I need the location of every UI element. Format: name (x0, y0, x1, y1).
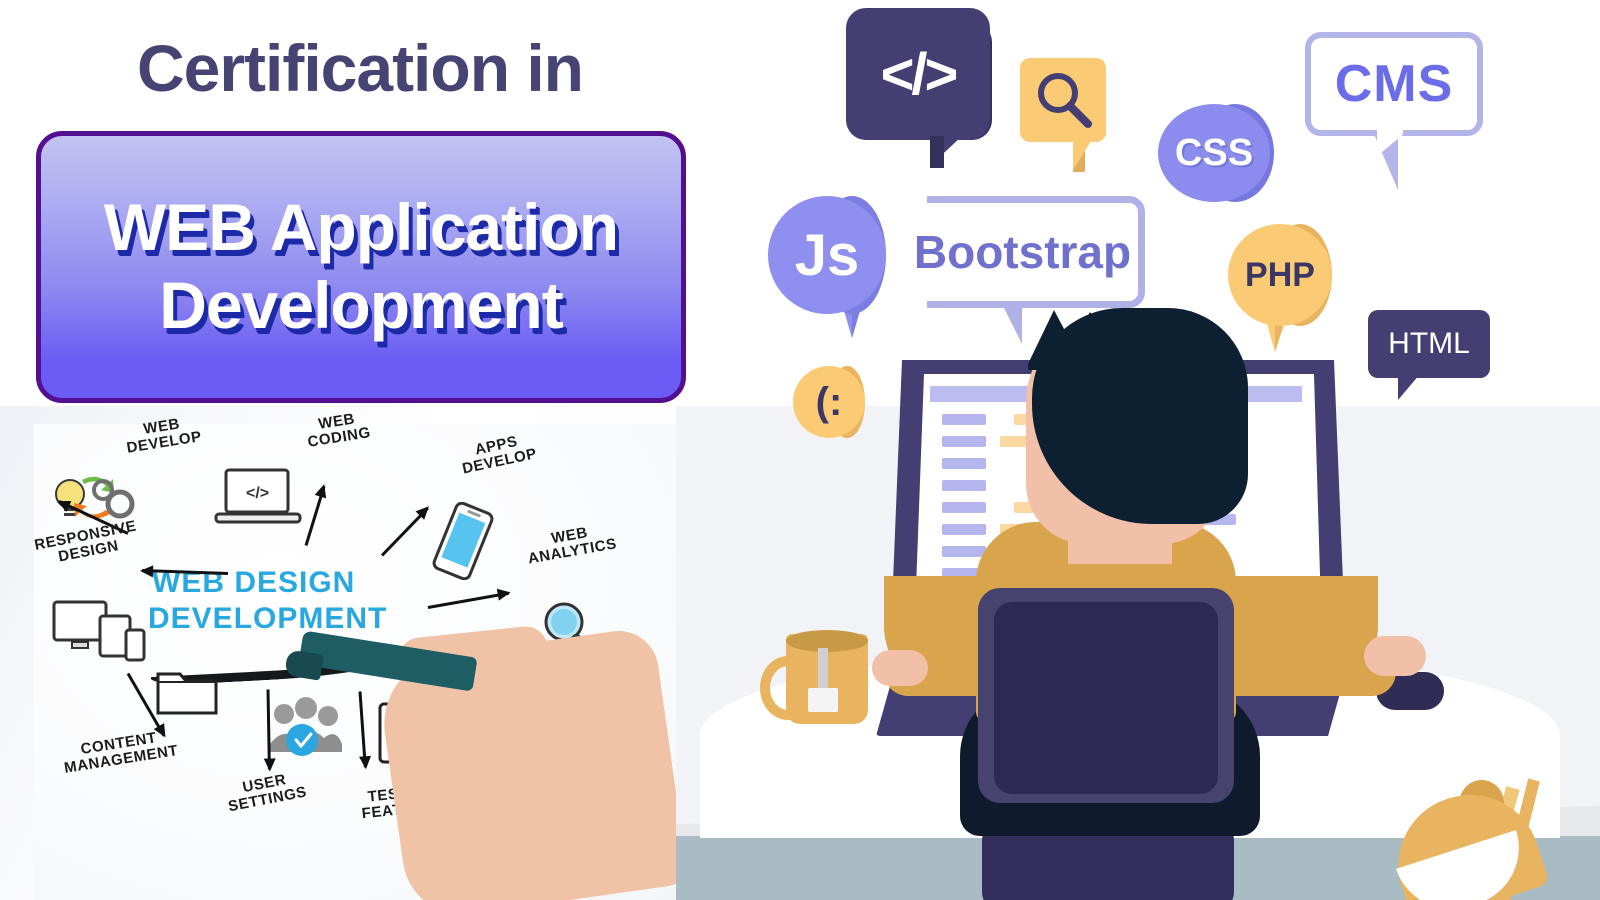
page-title-top: Certification in (40, 34, 680, 103)
chair-back-inner (994, 602, 1218, 794)
mindmap-arrow-apps-develop (381, 507, 429, 557)
bootstrap-badge-label: Bootstrap (900, 196, 1145, 308)
users-clock-icon (266, 694, 346, 762)
poster-canvas: Certification in WEB Application Develop… (0, 0, 1600, 900)
folder-icon (152, 664, 222, 720)
tea-bag-string (818, 648, 828, 690)
mindmap-center-line-2: DEVELOPMENT (148, 602, 387, 636)
developer-illustration (676, 300, 1600, 900)
code-tags-icon: </> (846, 8, 990, 140)
magnifier-icon (1032, 68, 1098, 134)
mindmap-node-apps-develop: APPS DEVELOP (442, 427, 554, 480)
mindmap-arrow-web-analytics (428, 592, 509, 609)
mindmap-node-web-develop: WEB DEVELOP (106, 411, 220, 459)
mindmap-arrow-testing-features (359, 691, 367, 767)
mindmap-node-content-management: CONTENT MANAGEMENT (42, 724, 197, 779)
code-badge-tail-shadow (930, 136, 944, 168)
css-badge-label: CSS (1158, 104, 1270, 202)
hand-left (872, 650, 928, 686)
search-badge-tail (1073, 138, 1093, 170)
mindmap-node-web-analytics: WEB ANALYTICS (510, 518, 632, 569)
tea-bag-tag (808, 688, 838, 712)
devices-icon (50, 596, 148, 668)
smartphone-icon (432, 502, 494, 580)
page-title-line-2: Development (159, 269, 562, 343)
cms-badge-label: CMS (1305, 32, 1483, 136)
laptop-code-icon: </> (212, 466, 304, 530)
mindmap: WEB DESIGN DEVELOPMENT WEB DEVELOP WEB C… (0, 406, 676, 900)
hand-right (1364, 636, 1426, 676)
svg-text:</>: </> (246, 485, 269, 502)
mindmap-node-responsive-design: RESPONSIVE DESIGN (20, 516, 154, 571)
mindmap-arrow-web-coding (305, 486, 326, 546)
title-highlight-box: WEB Application Development (36, 131, 686, 403)
page-title-line-1: WEB Application (104, 191, 618, 265)
js-badge-label: Js (768, 196, 886, 314)
mindmap-node-web-coding: WEB CODING (288, 407, 388, 453)
mindmap-node-user-settings: USER SETTINGS (210, 766, 322, 817)
